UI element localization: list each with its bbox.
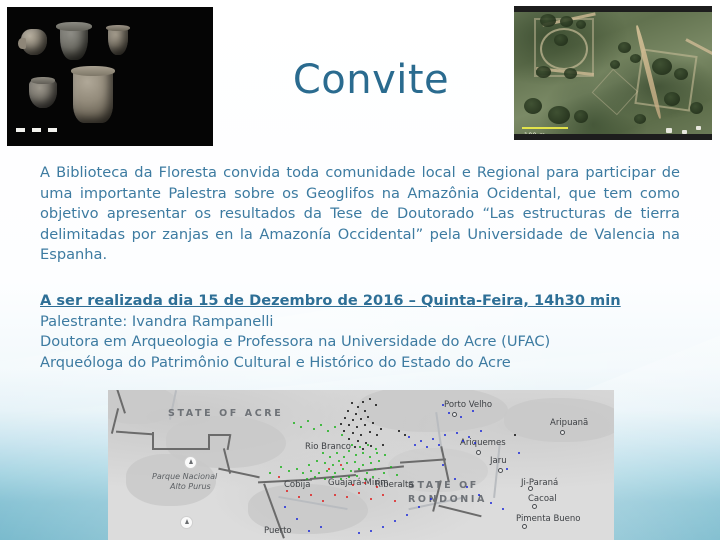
pottery-vessel-2 <box>60 24 88 60</box>
map-city-marker <box>560 430 565 435</box>
satellite-tree-cluster <box>564 68 577 79</box>
satellite-scale-bar <box>522 127 568 129</box>
geoglyph-distribution-map: STATE OF ACRE STATE OF RONDONIA Parque N… <box>108 390 614 540</box>
photo-scale-tick <box>32 128 41 132</box>
map-label-ji-parana: Ji-Paraná <box>521 478 558 488</box>
park-marker-icon <box>180 516 193 529</box>
satellite-tree-cluster <box>576 20 586 29</box>
map-city-marker <box>522 524 527 529</box>
map-label-jaru: Jaru <box>490 456 507 466</box>
satellite-building <box>696 126 701 130</box>
map-label-porto-velho: Porto Velho <box>444 400 492 410</box>
pottery-vessel-4 <box>29 79 57 108</box>
slide-title: Convite <box>226 58 516 102</box>
satellite-tree-cluster <box>674 68 688 80</box>
satellite-tree-cluster <box>664 92 680 106</box>
speaker-credential-2: Arqueóloga do Patrimônio Cultural e Hist… <box>40 353 685 374</box>
map-city-marker <box>452 412 457 417</box>
satellite-tree-cluster <box>536 66 551 78</box>
map-label-ariquemes: Ariquemes <box>460 438 506 448</box>
satellite-tree-cluster <box>524 98 542 114</box>
map-label-state-of: STATE OF <box>408 480 479 491</box>
aerial-geoglyph-photo: 100 m <box>514 6 712 140</box>
satellite-tree-cluster <box>548 106 570 124</box>
satellite-tree-cluster <box>560 16 573 27</box>
satellite-building <box>666 128 672 133</box>
satellite-top-border <box>514 6 712 12</box>
event-details: A ser realizada dia 15 de Dezembro de 20… <box>40 291 685 373</box>
map-label-rio-branco: Rio Branco <box>305 442 351 452</box>
photo-scale-tick <box>16 128 25 132</box>
pottery-vessel-3 <box>108 26 128 55</box>
map-city-marker <box>532 504 537 509</box>
satellite-tree-cluster <box>690 102 703 114</box>
photo-scale-tick <box>48 128 57 132</box>
map-city-marker <box>498 468 503 473</box>
presentation-slide: 100 m Convite A Biblioteca da Floresta c… <box>0 0 720 540</box>
satellite-tree-cluster <box>540 14 556 27</box>
satellite-tree-cluster <box>574 110 588 123</box>
map-label-guajara-mirim: Guajará-Mirim <box>328 478 388 488</box>
event-datetime-headline: A ser realizada dia 15 de Dezembro de 20… <box>40 291 685 312</box>
map-label-park-line1: Parque Nacional <box>152 472 217 482</box>
map-city-marker <box>476 450 481 455</box>
map-label-aripuana: Aripuanã <box>550 418 588 428</box>
map-label-cobija: Cobija <box>284 480 310 490</box>
satellite-tree-cluster <box>554 34 568 46</box>
park-marker-icon <box>184 456 197 469</box>
satellite-tree-cluster <box>634 114 646 124</box>
map-label-puerto: Puerto <box>264 526 292 536</box>
map-boundary <box>152 448 210 450</box>
map-city-marker <box>528 486 533 491</box>
pottery-vessel-1 <box>21 29 47 55</box>
map-label-park-line2: Alto Purus <box>170 482 211 492</box>
map-label-state-rondonia: RONDONIA <box>408 494 487 505</box>
satellite-tree-cluster <box>652 58 672 75</box>
map-boundary <box>208 434 230 436</box>
satellite-bottom-border <box>514 134 712 140</box>
speaker-line: Palestrante: Ivandra Rampanelli <box>40 312 685 333</box>
speaker-credential-1: Doutora em Arqueologia e Professora na U… <box>40 332 685 353</box>
satellite-tree-cluster <box>610 60 620 69</box>
map-boundary <box>208 434 210 450</box>
satellite-tree-cluster <box>630 54 641 63</box>
map-label-state-acre: STATE OF ACRE <box>168 408 283 419</box>
invitation-paragraph: A Biblioteca da Floresta convida toda co… <box>40 163 680 266</box>
map-label-cacoal: Cacoal <box>528 494 557 504</box>
map-label-pimenta-bueno: Pimenta Bueno <box>516 514 580 524</box>
pottery-vessel-5 <box>73 69 113 123</box>
satellite-tree-cluster <box>618 42 631 53</box>
map-terrain-patch <box>358 390 508 432</box>
invitation-body: A Biblioteca da Floresta convida toda co… <box>40 163 680 266</box>
archaeological-pottery-photo <box>7 7 213 146</box>
